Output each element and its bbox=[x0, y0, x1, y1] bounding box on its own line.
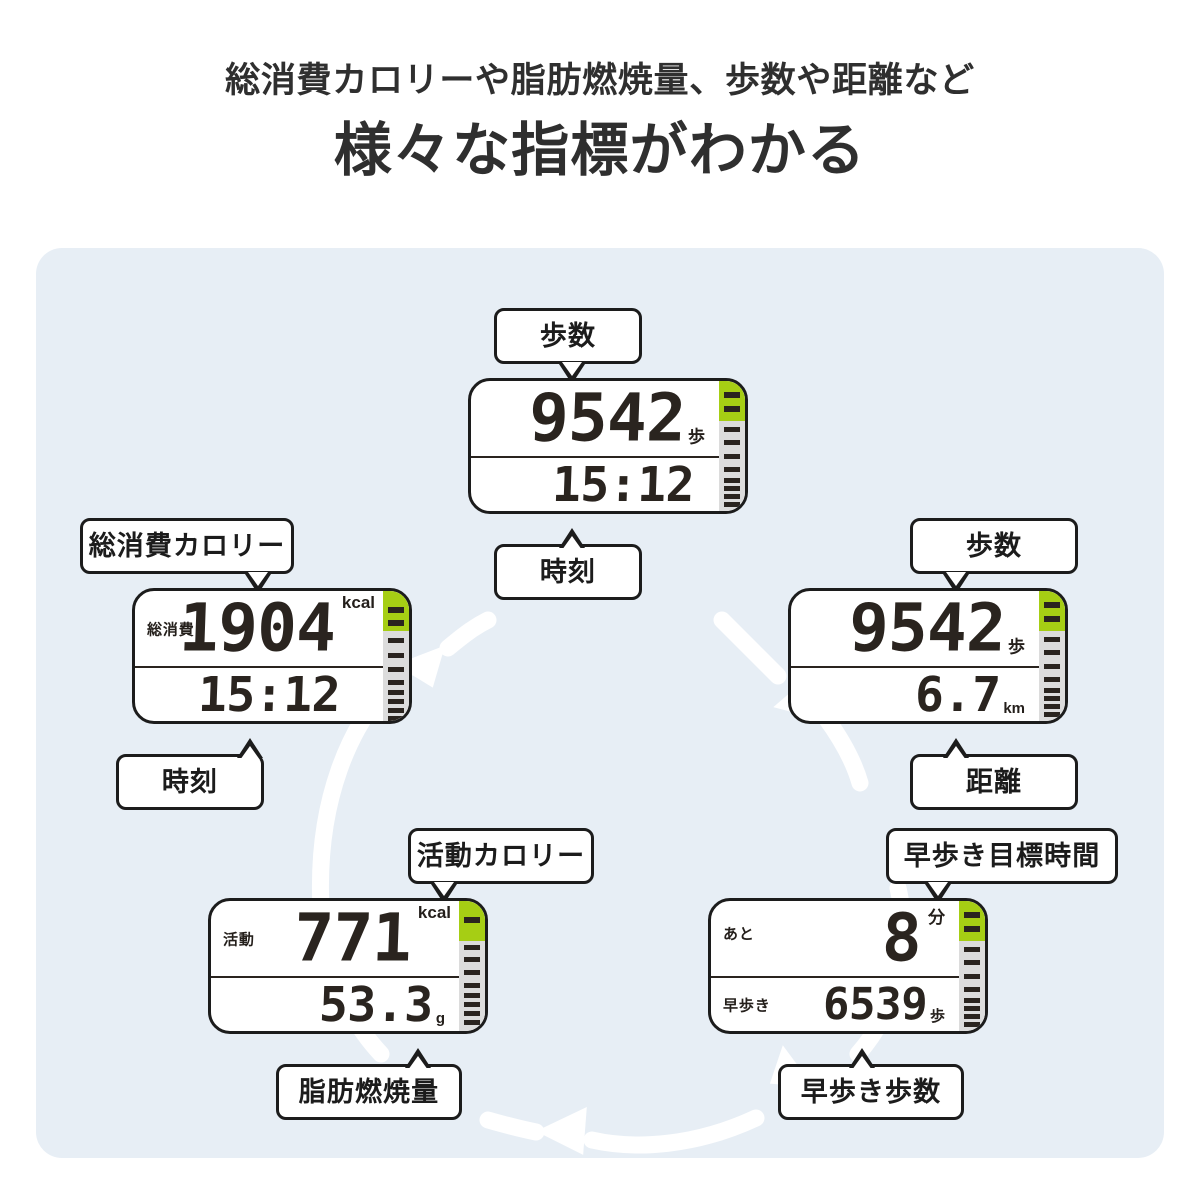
gauge-tick bbox=[724, 502, 740, 507]
gauge-tick bbox=[388, 680, 404, 685]
lcd-inner: 総消費 1904 kcal 15:12 bbox=[135, 591, 409, 721]
lcd-unit: 歩 bbox=[688, 422, 705, 447]
gauge-active-segment bbox=[383, 591, 409, 631]
gauge-tick bbox=[1044, 688, 1060, 693]
gauge-tick bbox=[724, 454, 740, 459]
gauge-inactive-segment bbox=[719, 421, 745, 511]
callout-time-left: 時刻 bbox=[116, 754, 264, 810]
page-subtitle: 総消費カロリーや脂肪燃焼量、歩数や距離など bbox=[0, 62, 1200, 101]
lcd-main: 総消費 1904 kcal 15:12 bbox=[135, 591, 383, 721]
callout-label: 歩数 bbox=[966, 533, 1022, 560]
device-brisk-walk: あと 8 分 早歩き 6539 歩 bbox=[708, 898, 988, 1034]
callout-label: 早歩き目標時間 bbox=[904, 843, 1101, 870]
lcd-value-group: 15:12 bbox=[552, 463, 697, 507]
gauge-tick bbox=[464, 957, 480, 962]
callout-brisk-steps: 早歩き歩数 bbox=[778, 1064, 964, 1120]
device-total-calories: 総消費 1904 kcal 15:12 bbox=[132, 588, 412, 724]
callout-label: 歩数 bbox=[540, 323, 596, 350]
diagram-panel: 歩数 9542 歩 15:12 bbox=[36, 248, 1164, 1158]
callout-label: 総消費カロリー bbox=[89, 533, 286, 560]
callout-label: 時刻 bbox=[540, 559, 596, 586]
lcd-inner: 活動 771 kcal 53.3 g bbox=[211, 901, 485, 1031]
gauge-tick bbox=[388, 716, 404, 721]
lcd-row-tag: あと bbox=[723, 923, 755, 944]
callout-time-top: 時刻 bbox=[494, 544, 642, 600]
lcd-inner: 9542 歩 6.7 km bbox=[791, 591, 1065, 721]
lcd-row-top: 総消費 1904 kcal bbox=[135, 591, 383, 666]
gauge-inactive-segment bbox=[1039, 631, 1065, 721]
lcd-value: 15:12 bbox=[551, 463, 695, 507]
gauge-tick bbox=[724, 467, 740, 472]
gauge-tick bbox=[724, 392, 740, 398]
lcd-value: 9542 bbox=[528, 388, 686, 449]
gauge-tick bbox=[964, 1022, 980, 1027]
callout-steps-right: 歩数 bbox=[910, 518, 1078, 574]
lcd-row-top: あと 8 分 bbox=[711, 901, 959, 976]
lcd-value: 53.3 bbox=[318, 983, 433, 1027]
gauge-tick bbox=[388, 638, 404, 643]
gauge-tick bbox=[388, 620, 404, 626]
gauge-tick bbox=[464, 1002, 480, 1007]
lcd-row-bottom: 6.7 km bbox=[791, 666, 1039, 721]
lcd-value-group: 9542 歩 bbox=[849, 598, 1025, 659]
gauge-inactive-segment bbox=[959, 941, 985, 1031]
lcd-unit: g bbox=[436, 1010, 445, 1027]
callout-pointer-up-icon bbox=[943, 738, 969, 758]
gauge-tick bbox=[464, 1011, 480, 1016]
callout-label: 早歩き歩数 bbox=[801, 1079, 941, 1106]
gauge-tick bbox=[1044, 704, 1060, 709]
gauge-tick bbox=[964, 1014, 980, 1019]
lcd-inner: 9542 歩 15:12 bbox=[471, 381, 745, 511]
arrow-path-top-right bbox=[722, 620, 778, 676]
gauge-tick bbox=[1044, 664, 1060, 669]
arrow-tail-bottom-left bbox=[488, 1120, 536, 1132]
gauge-tick bbox=[724, 494, 740, 499]
lcd-value-group: 6539 歩 bbox=[823, 984, 945, 1024]
gauge-inactive-segment bbox=[459, 941, 485, 1031]
device-activity-fat: 活動 771 kcal 53.3 g bbox=[208, 898, 488, 1034]
gauge-tick bbox=[964, 960, 980, 965]
gauge-tick bbox=[724, 406, 740, 412]
gauge-tick bbox=[964, 912, 980, 918]
gauge-tick bbox=[1044, 677, 1060, 682]
lcd-unit: 歩 bbox=[1008, 632, 1025, 657]
lcd-row-top: 9542 歩 bbox=[791, 591, 1039, 666]
lcd-main: 活動 771 kcal 53.3 g bbox=[211, 901, 459, 1031]
callout-fat-burn: 脂肪燃焼量 bbox=[276, 1064, 462, 1120]
lcd-main: 9542 歩 6.7 km bbox=[791, 591, 1039, 721]
lcd-value-group: 1904 bbox=[179, 598, 335, 659]
gauge-tick bbox=[388, 607, 404, 613]
lcd-value: 6539 bbox=[822, 984, 928, 1024]
lcd-value-group: 15:12 bbox=[198, 673, 343, 717]
lcd-row-bottom: 15:12 bbox=[471, 456, 719, 511]
gauge-tick bbox=[464, 1020, 480, 1025]
lcd-unit: kcal bbox=[418, 903, 451, 970]
lcd-unit: 歩 bbox=[930, 1004, 945, 1025]
callout-label: 活動カロリー bbox=[417, 843, 585, 870]
gauge-inactive-segment bbox=[383, 631, 409, 721]
callout-distance-right: 距離 bbox=[910, 754, 1078, 810]
arrowhead-bottom-left bbox=[535, 1105, 587, 1155]
gauge-tick bbox=[388, 708, 404, 713]
gauge-bar bbox=[383, 591, 409, 721]
gauge-active-segment bbox=[719, 381, 745, 421]
lcd-main: 9542 歩 15:12 bbox=[471, 381, 719, 511]
lcd-row-tag: 早歩き bbox=[723, 994, 771, 1015]
callout-pointer-up-icon bbox=[559, 528, 585, 548]
page-title: 様々な指標がわかる bbox=[0, 119, 1200, 183]
gauge-tick bbox=[1044, 637, 1060, 642]
gauge-tick bbox=[464, 945, 480, 950]
lcd-unit: 分 bbox=[928, 903, 945, 972]
lcd-unit: kcal bbox=[342, 593, 375, 650]
gauge-tick bbox=[964, 926, 980, 932]
gauge-tick bbox=[1044, 712, 1060, 717]
gauge-tick bbox=[464, 993, 480, 998]
lcd-row-bottom: 15:12 bbox=[135, 666, 383, 721]
gauge-tick bbox=[1044, 650, 1060, 655]
gauge-tick bbox=[964, 947, 980, 952]
gauge-tick bbox=[724, 478, 740, 483]
gauge-bar bbox=[959, 901, 985, 1031]
gauge-tick bbox=[388, 699, 404, 704]
lcd-value: 8 bbox=[881, 908, 922, 969]
device-steps-time: 9542 歩 15:12 bbox=[468, 378, 748, 514]
page-heading-block: 総消費カロリーや脂肪燃焼量、歩数や距離など 様々な指標がわかる bbox=[0, 0, 1200, 182]
lcd-inner: あと 8 分 早歩き 6539 歩 bbox=[711, 901, 985, 1031]
lcd-value-group: 9542 歩 bbox=[529, 388, 705, 449]
gauge-tick bbox=[964, 974, 980, 979]
gauge-tick bbox=[1044, 602, 1060, 608]
callout-label: 時刻 bbox=[162, 769, 218, 796]
gauge-bar bbox=[1039, 591, 1065, 721]
callout-pointer-up-icon bbox=[405, 1048, 431, 1068]
lcd-value-group: 771 bbox=[294, 908, 411, 969]
gauge-bar bbox=[719, 381, 745, 511]
lcd-value: 6.7 bbox=[914, 673, 1001, 717]
arrow-tail-left-up bbox=[448, 620, 488, 648]
device-steps-distance: 9542 歩 6.7 km bbox=[788, 588, 1068, 724]
lcd-value: 1904 bbox=[178, 598, 336, 659]
callout-label: 脂肪燃焼量 bbox=[299, 1079, 439, 1106]
callout-pointer-up-icon bbox=[237, 738, 263, 758]
callout-label: 距離 bbox=[966, 769, 1022, 796]
gauge-active-segment bbox=[459, 901, 485, 941]
gauge-active-segment bbox=[1039, 591, 1065, 631]
lcd-value: 771 bbox=[293, 908, 412, 969]
lcd-row-bottom: 53.3 g bbox=[211, 976, 459, 1031]
lcd-row-bottom: 早歩き 6539 歩 bbox=[711, 976, 959, 1031]
gauge-bar bbox=[459, 901, 485, 1031]
callout-brisk-target-time: 早歩き目標時間 bbox=[886, 828, 1118, 884]
lcd-value: 9542 bbox=[848, 598, 1006, 659]
lcd-value-group: 8 bbox=[882, 908, 921, 969]
callout-activity-calories: 活動カロリー bbox=[408, 828, 594, 884]
callout-steps-top: 歩数 bbox=[494, 308, 642, 364]
gauge-tick bbox=[724, 440, 740, 445]
gauge-tick bbox=[388, 653, 404, 658]
gauge-tick bbox=[964, 998, 980, 1003]
gauge-tick bbox=[724, 486, 740, 491]
gauge-tick bbox=[964, 987, 980, 992]
callout-total-calories: 総消費カロリー bbox=[80, 518, 294, 574]
lcd-value: 15:12 bbox=[197, 673, 341, 717]
lcd-row-tag: 活動 bbox=[223, 928, 255, 949]
gauge-tick bbox=[1044, 696, 1060, 701]
gauge-tick bbox=[388, 690, 404, 695]
gauge-tick bbox=[464, 983, 480, 988]
gauge-tick bbox=[464, 917, 480, 923]
lcd-value-group: 53.3 g bbox=[319, 983, 445, 1027]
lcd-main: あと 8 分 早歩き 6539 歩 bbox=[711, 901, 959, 1031]
lcd-row-top: 9542 歩 bbox=[471, 381, 719, 456]
lcd-row-top: 活動 771 kcal bbox=[211, 901, 459, 976]
arrow-tail-top-right bbox=[826, 718, 860, 783]
gauge-tick bbox=[724, 427, 740, 432]
callout-pointer-up-icon bbox=[849, 1048, 875, 1068]
lcd-unit: km bbox=[1003, 700, 1025, 717]
gauge-active-segment bbox=[959, 901, 985, 941]
gauge-tick bbox=[964, 1006, 980, 1011]
gauge-tick bbox=[1044, 616, 1060, 622]
gauge-tick bbox=[464, 970, 480, 975]
gauge-tick bbox=[388, 667, 404, 672]
arrow-path-bottom-left bbox=[592, 1118, 756, 1145]
lcd-value-group: 6.7 km bbox=[915, 673, 1025, 717]
